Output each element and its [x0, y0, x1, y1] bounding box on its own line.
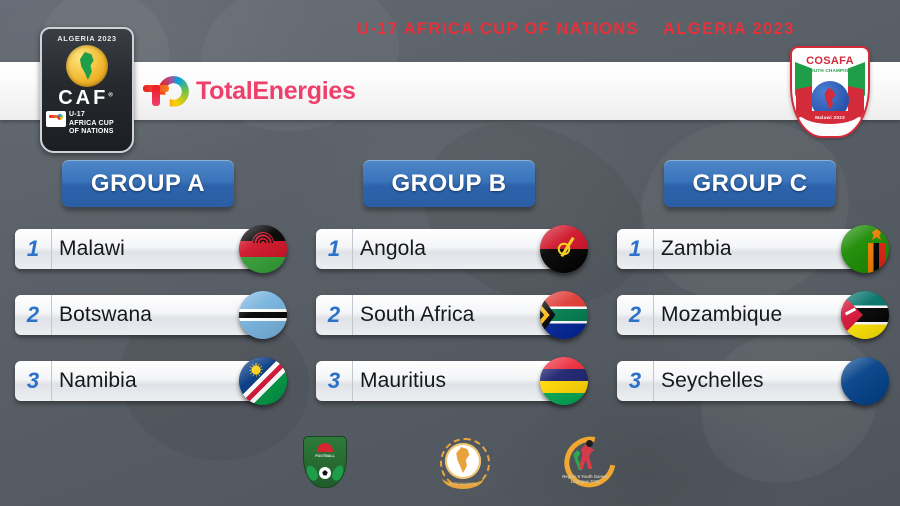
table-row[interactable]: 3 Namibia	[15, 361, 281, 401]
table-row[interactable]: 2 Botswana	[15, 295, 281, 335]
team-name: Botswana	[59, 295, 225, 335]
caf-emblem-arc: ALGERIA 2023	[42, 34, 132, 43]
group-c-team-list: 1 Zambia 2 Mozambique 3 Seychelles	[617, 229, 883, 401]
r5-line2: Lilongwe 2023	[550, 479, 620, 484]
cosafa-title: COSAFA	[792, 55, 868, 67]
caf-sub-line2: AFRICA CUP	[69, 120, 114, 129]
fam-line1: FOOTBALL	[304, 454, 346, 458]
caf-emblem-icon: ALGERIA 2023 CAF® U-17 AFRICA CUP OF NAT…	[40, 27, 134, 153]
competition-title: U-17 AFRICA CUP OF NATIONS	[357, 0, 639, 58]
flag-zambia-icon	[841, 225, 889, 273]
team-rank: 2	[617, 295, 654, 335]
sponsor-name: TotalEnergies	[196, 77, 356, 106]
team-name: Mozambique	[661, 295, 827, 335]
team-rank: 1	[316, 229, 353, 269]
team-name: South Africa	[360, 295, 526, 335]
au-caption: AFRICAN UNION	[434, 482, 492, 486]
caf-subtitle-lines: U-17 AFRICA CUP OF NATIONS	[69, 111, 114, 137]
caf-sub-line3: OF NATIONS	[69, 128, 114, 137]
flag-angola-icon	[540, 225, 588, 273]
table-row[interactable]: 1 Zambia	[617, 229, 883, 269]
team-name: Angola	[360, 229, 526, 269]
flag-mozambique-icon	[841, 291, 889, 339]
group-header-c: GROUP C	[664, 160, 836, 207]
caf-globe-icon	[66, 45, 108, 87]
team-rank: 3	[316, 361, 353, 401]
region-5-youth-games-logo-icon: Region 5 Youth Games Lilongwe 2023	[550, 436, 620, 492]
cosafa-host-band: Malawi 2023	[798, 111, 862, 124]
r5-caption: Region 5 Youth Games Lilongwe 2023	[550, 474, 620, 485]
team-rank: 2	[316, 295, 353, 335]
flag-malawi-icon	[239, 225, 287, 273]
cosafa-subtitle: U17 YOUTH CHAMPIONSHIP	[792, 68, 868, 74]
caf-wordmark: CAF®	[42, 87, 132, 110]
banner-shine	[0, 62, 900, 91]
football-association-of-malawi-logo-icon: FOOTBALL	[303, 436, 347, 488]
group-column-b: GROUP B 1 Angola 2 South Africa 3 Maurit…	[316, 160, 582, 427]
team-name: Namibia	[59, 361, 225, 401]
team-rank: 1	[15, 229, 52, 269]
group-column-c: GROUP C 1 Zambia 2 Mozambique 3 Seychell…	[617, 160, 883, 427]
team-rank: 1	[617, 229, 654, 269]
table-row[interactable]: 2 South Africa	[316, 295, 582, 335]
flag-namibia-icon	[239, 357, 287, 405]
caf-subtitle: U-17 AFRICA CUP OF NATIONS	[46, 111, 129, 137]
table-row[interactable]: 1 Malawi	[15, 229, 281, 269]
cosafa-shield: COSAFA U17 YOUTH CHAMPIONSHIP Malawi 202…	[790, 46, 870, 138]
table-row[interactable]: 3 Seychelles	[617, 361, 883, 401]
team-name: Zambia	[661, 229, 827, 269]
flag-seychelles-icon	[841, 357, 889, 405]
totalenergies-mini-icon	[46, 111, 66, 127]
flag-mauritius-icon	[540, 357, 588, 405]
totalenergies-sponsor-logo: TotalEnergies	[143, 69, 356, 113]
flag-south-africa-icon	[540, 291, 588, 339]
table-row[interactable]: 3 Mauritius	[316, 361, 582, 401]
cosafa-emblem-icon: COSAFA U17 YOUTH CHAMPIONSHIP Malawi 202…	[790, 46, 870, 138]
african-union-logo-icon: AFRICAN UNION	[434, 436, 492, 492]
table-row[interactable]: 1 Angola	[316, 229, 582, 269]
team-name: Malawi	[59, 229, 225, 269]
group-header-b: GROUP B	[363, 160, 535, 207]
group-a-team-list: 1 Malawi 2 Botswana 3 Namibia	[15, 229, 281, 401]
team-rank: 3	[617, 361, 654, 401]
team-name: Seychelles	[661, 361, 827, 401]
table-row[interactable]: 2 Mozambique	[617, 295, 883, 335]
team-rank: 3	[15, 361, 52, 401]
flag-botswana-icon	[239, 291, 287, 339]
footer-logo-strip: FOOTBALL AFRICAN UNION Region 5 Youth Ga…	[0, 436, 900, 498]
totalenergies-logo-icon	[143, 76, 189, 107]
edition-title: ALGERIA 2023	[663, 0, 795, 58]
tournament-group-draw-graphic: TotalEnergies U-17 AFRICA CUP OF NATIONS…	[0, 0, 900, 506]
header-banner	[0, 62, 900, 120]
group-b-team-list: 1 Angola 2 South Africa 3 Mauritius	[316, 229, 582, 401]
team-rank: 2	[15, 295, 52, 335]
caf-sub-line1: U-17	[69, 111, 114, 120]
group-header-a: GROUP A	[62, 160, 234, 207]
group-column-a: GROUP A 1 Malawi 2 Botswana 3 Namibia	[15, 160, 281, 427]
team-name: Mauritius	[360, 361, 526, 401]
